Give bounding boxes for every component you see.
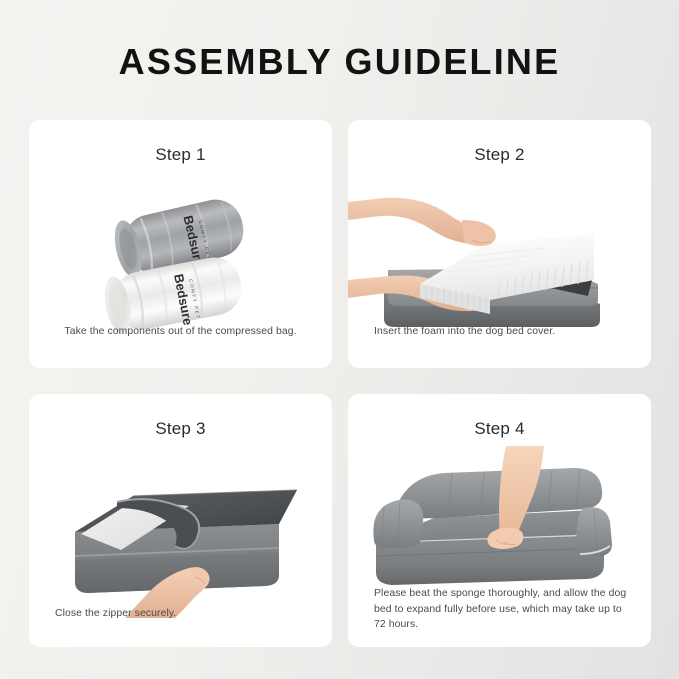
step-1-illustration: Bedsure COMFY PET Bedsure COMFY PET: [29, 172, 332, 342]
steps-grid: Step 1: [29, 120, 651, 647]
page-title: ASSEMBLY GUIDELINE: [0, 41, 679, 83]
step-card-3: Step 3: [29, 394, 332, 647]
assembly-guideline-page: ASSEMBLY GUIDELINE Step 1: [0, 0, 679, 679]
step-card-4: Step 4: [348, 394, 651, 647]
step-3-title: Step 3: [29, 419, 332, 439]
step-2-title: Step 2: [348, 145, 651, 165]
step-1-title: Step 1: [29, 145, 332, 165]
step-4-title: Step 4: [348, 419, 651, 439]
step-3-caption: Close the zipper securely.: [55, 606, 312, 622]
step-3-illustration: [29, 446, 332, 618]
step-1-caption: Take the components out of the compresse…: [43, 324, 318, 340]
step-4-illustration: [348, 446, 651, 606]
step-card-2: Step 2: [348, 120, 651, 368]
step-2-illustration: [348, 172, 651, 342]
step-2-caption: Insert the foam into the dog bed cover.: [374, 324, 631, 340]
step-card-1: Step 1: [29, 120, 332, 368]
step-4-caption: Please beat the sponge thoroughly, and a…: [374, 586, 631, 633]
